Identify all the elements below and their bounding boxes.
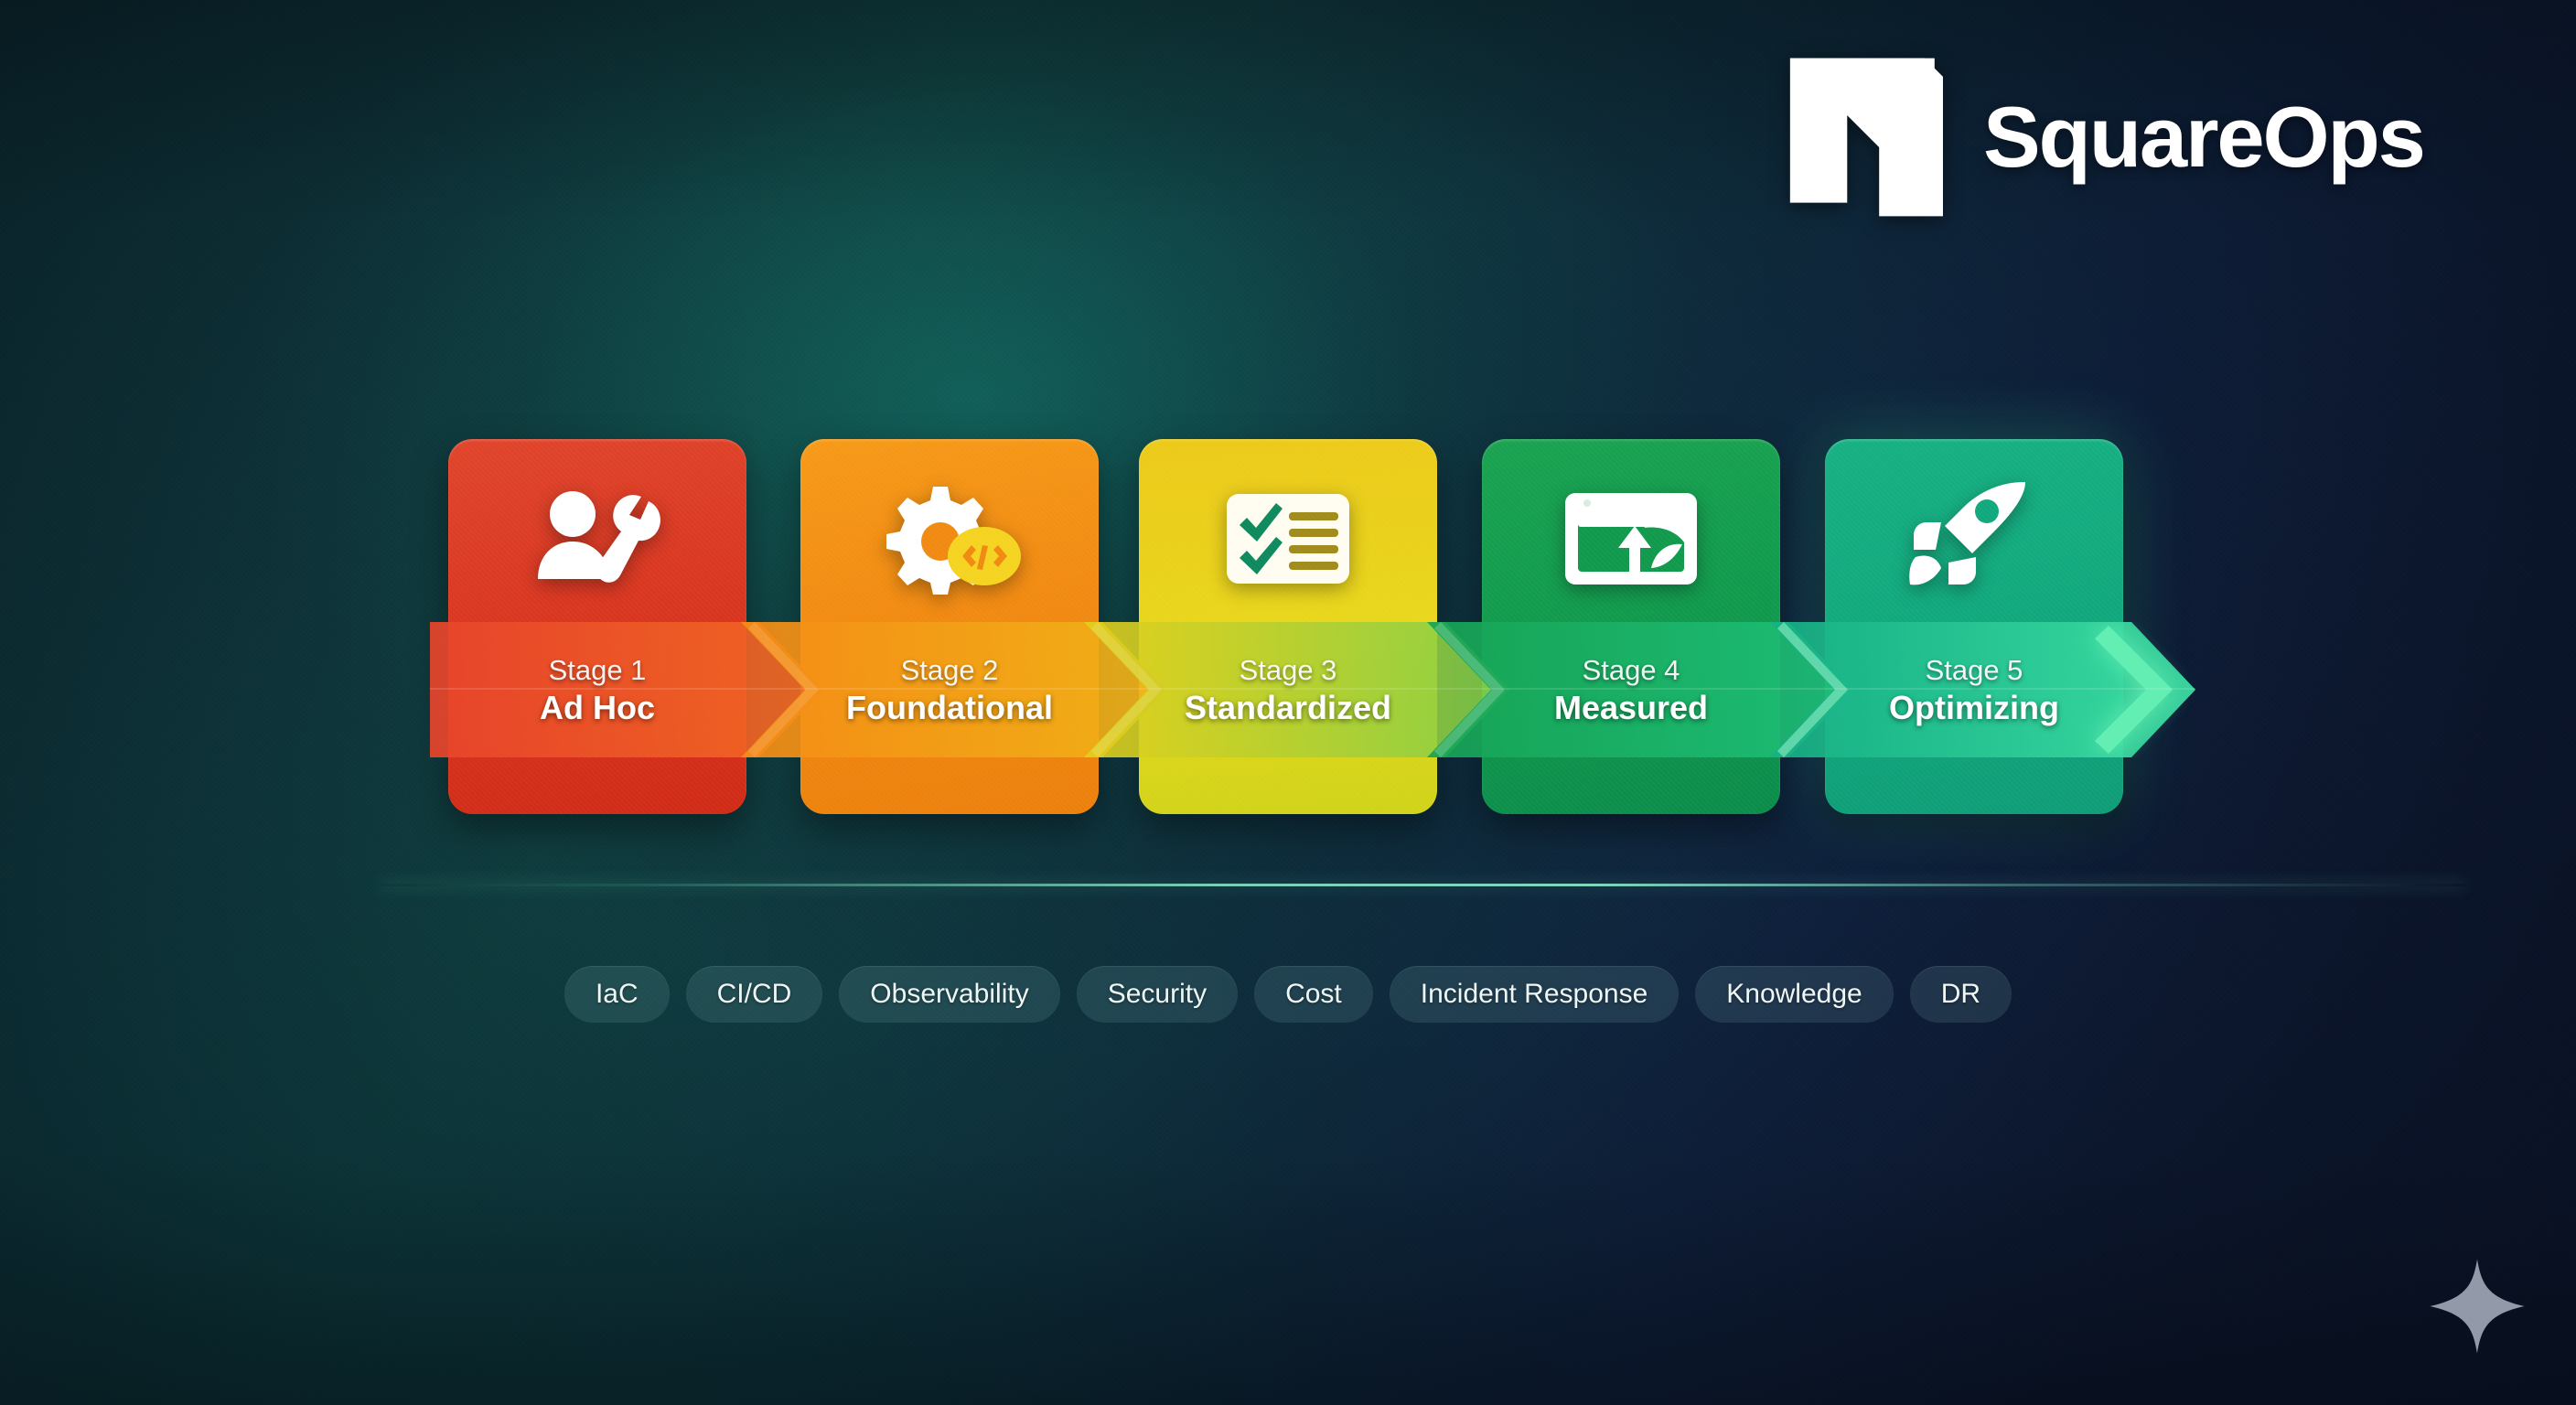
stage-number: Stage 5 (1926, 656, 2023, 684)
stage-name: Measured (1554, 692, 1708, 724)
stage-name: Optimizing (1889, 692, 2059, 724)
pill-label: IaC (596, 979, 639, 1010)
capability-pill-row: IaC CI/CD Observability Security Cost In… (0, 966, 2576, 1023)
dashboard-chart-icon (1482, 470, 1780, 607)
checklist-icon (1139, 470, 1437, 607)
pill-incident-response[interactable]: Incident Response (1390, 966, 1680, 1023)
stage-number: Stage 4 (1583, 656, 1680, 684)
pill-label: Knowledge (1726, 979, 1862, 1010)
pill-cicd[interactable]: CI/CD (686, 966, 823, 1023)
stage-name: Foundational (846, 692, 1053, 724)
stage-number: Stage 2 (901, 656, 999, 684)
brand-name: SquareOps (1983, 94, 2424, 180)
pill-dr[interactable]: DR (1910, 966, 2012, 1023)
stage-label-5: Stage 5 Optimizing (1825, 622, 2123, 757)
pill-label: DR (1941, 979, 1980, 1010)
stage-label-1: Stage 1 Ad Hoc (448, 622, 746, 757)
pill-knowledge[interactable]: Knowledge (1695, 966, 1893, 1023)
pill-security[interactable]: Security (1077, 966, 1238, 1023)
stage-name: Standardized (1185, 692, 1391, 724)
pill-label: CI/CD (717, 979, 792, 1010)
pill-cost[interactable]: Cost (1254, 966, 1373, 1023)
stage-number: Stage 1 (549, 656, 647, 684)
stage-labels: Stage 1 Ad Hoc Stage 2 Foundational Stag… (448, 622, 2150, 757)
squareops-logo-icon (1786, 55, 1956, 220)
maturity-stage-strip: Stage 1 Ad Hoc Stage 2 Foundational Stag… (448, 439, 2150, 814)
rocket-icon (1825, 470, 2123, 607)
pill-label: Observability (870, 979, 1028, 1010)
brand-logo: SquareOps (1786, 55, 2424, 220)
pill-iac[interactable]: IaC (564, 966, 670, 1023)
stage-label-4: Stage 4 Measured (1482, 622, 1780, 757)
stage-label-2: Stage 2 Foundational (800, 622, 1099, 757)
gear-code-icon (800, 470, 1099, 607)
section-divider (380, 884, 2465, 886)
person-wrench-icon (448, 470, 746, 607)
pill-label: Security (1108, 979, 1207, 1010)
sparkle-icon (2426, 1255, 2528, 1357)
pill-label: Incident Response (1421, 979, 1648, 1010)
pill-observability[interactable]: Observability (839, 966, 1059, 1023)
stage-label-3: Stage 3 Standardized (1139, 622, 1437, 757)
stage-number: Stage 3 (1240, 656, 1337, 684)
stage-name: Ad Hoc (540, 692, 655, 724)
pill-label: Cost (1285, 979, 1342, 1010)
